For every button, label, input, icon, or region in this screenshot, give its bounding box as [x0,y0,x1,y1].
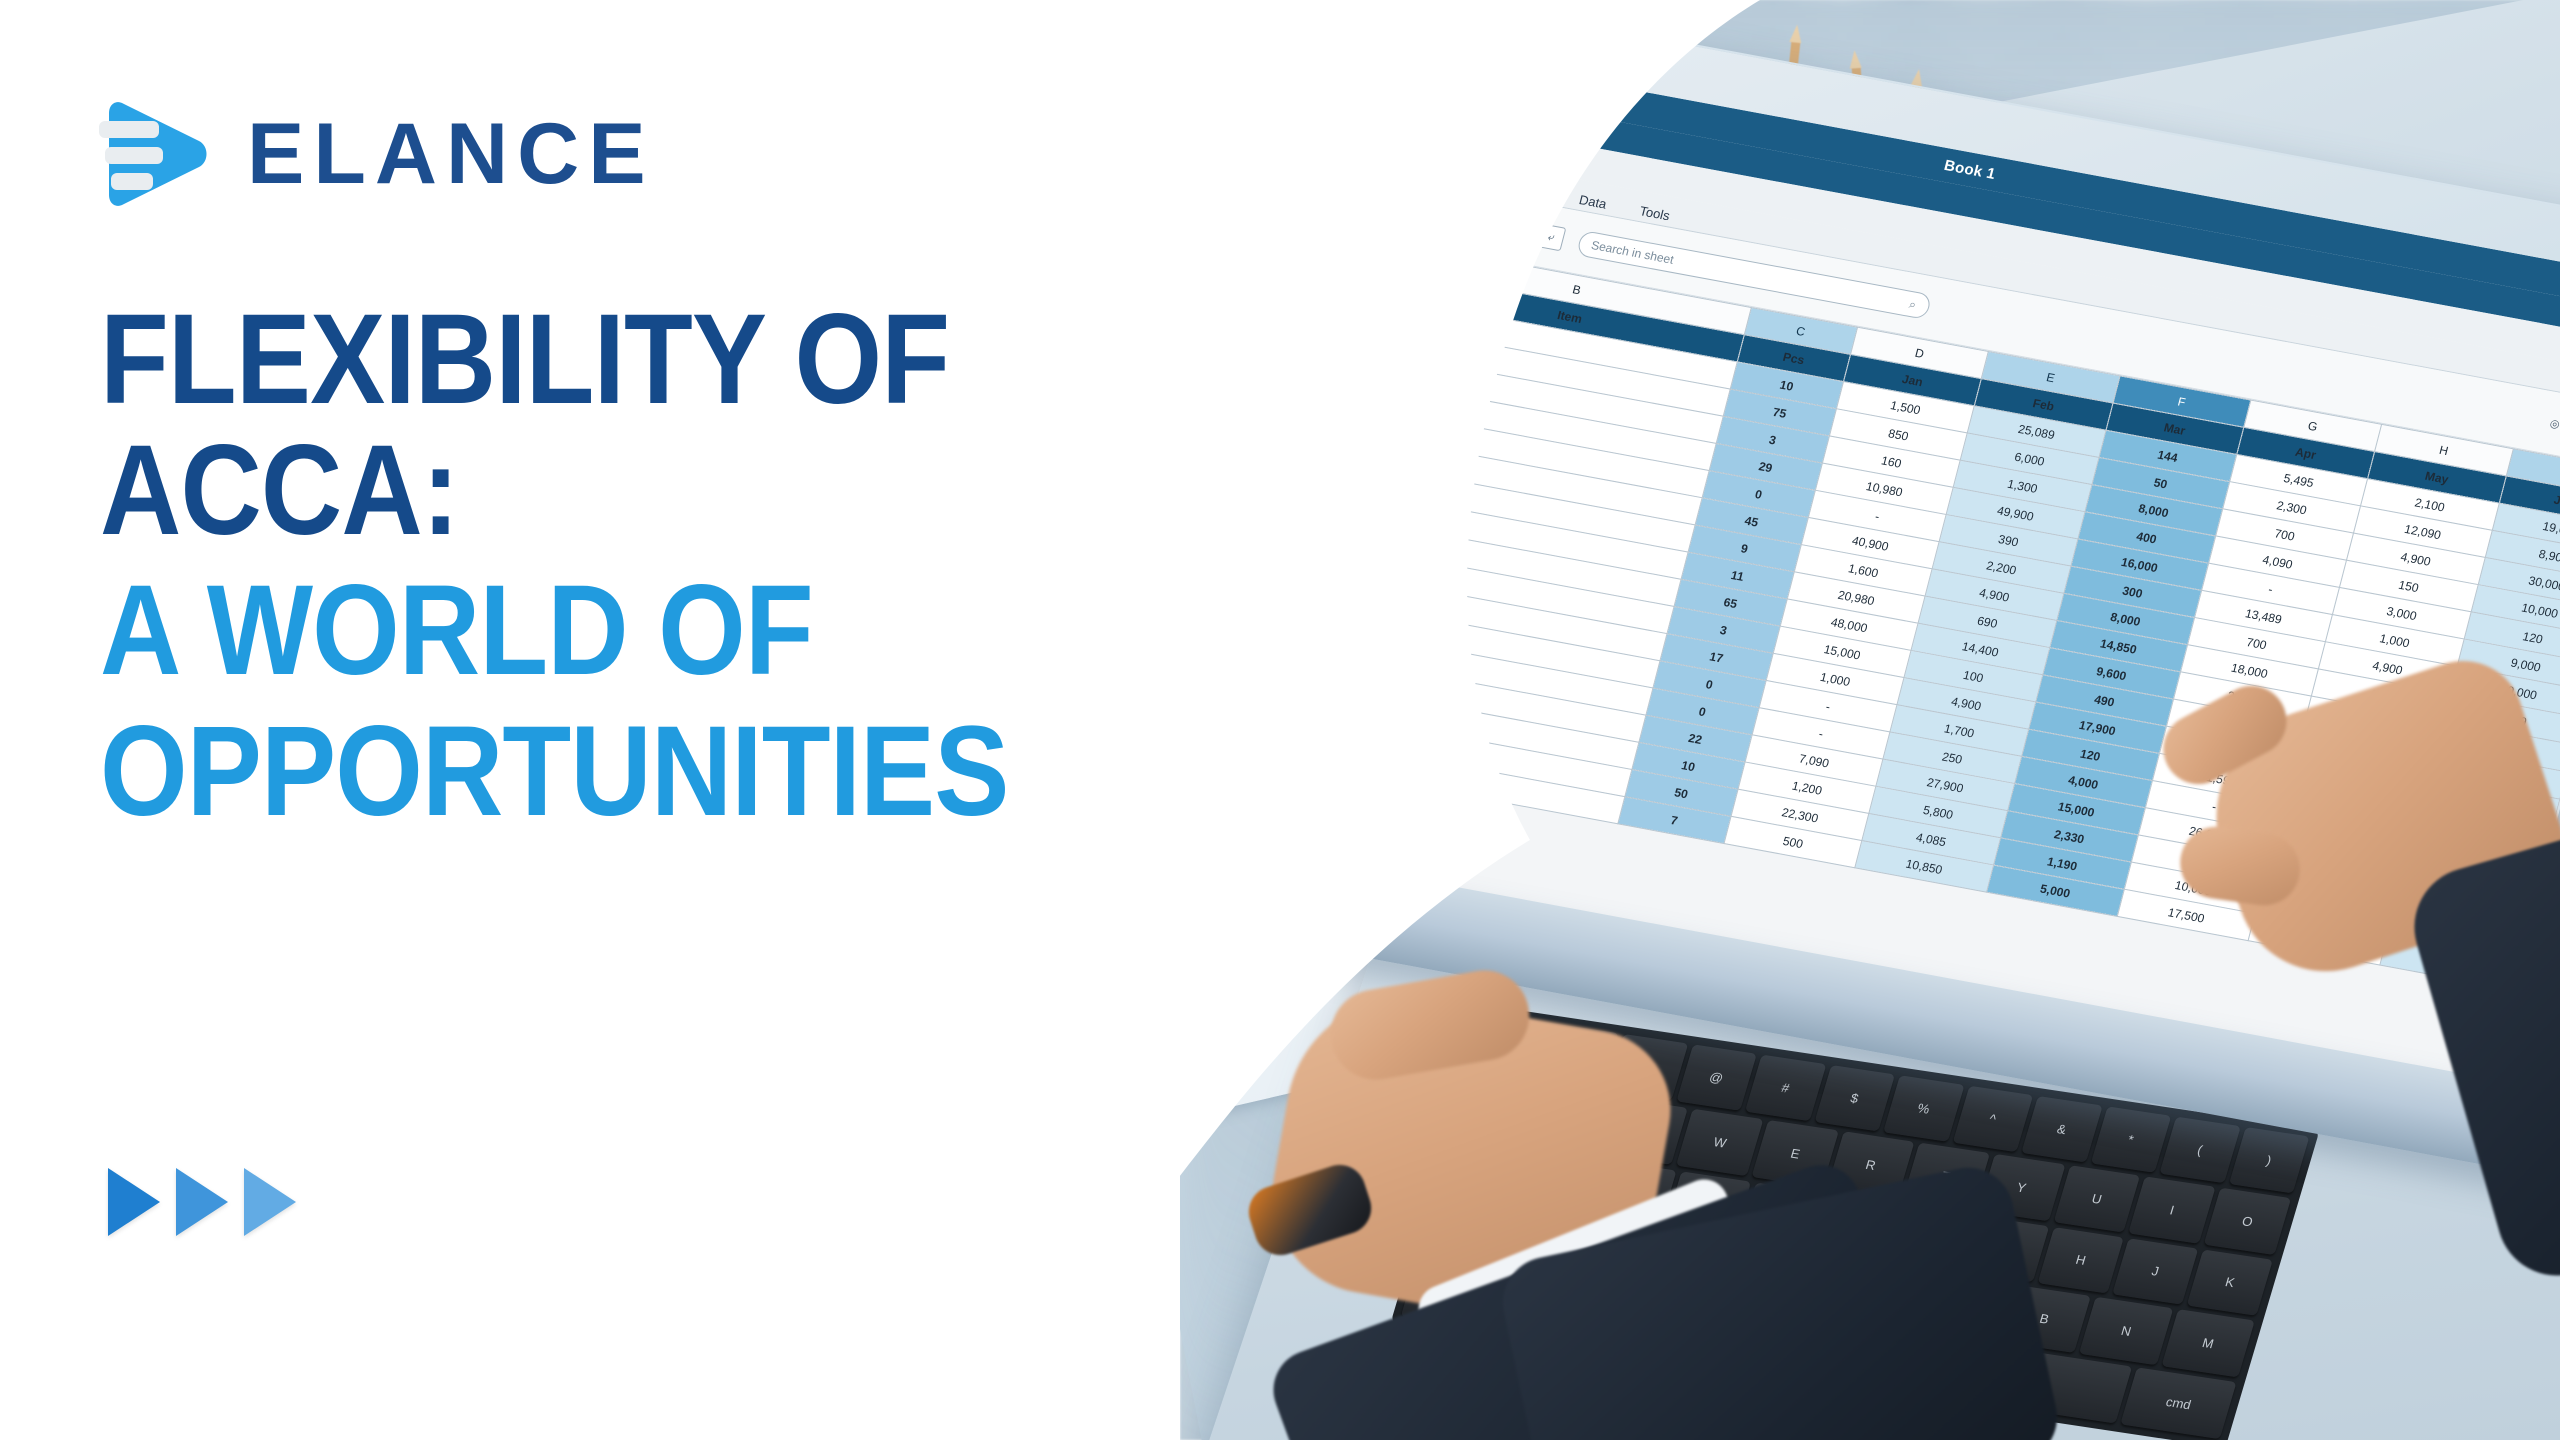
star-icon[interactable]: ★ [1298,103,1313,121]
valign-bottom-icon[interactable]: ⊥ [1470,225,1496,245]
logo-bar-3 [111,173,153,190]
valign-middle-icon[interactable]: ⊜ [1446,220,1472,240]
align-button-group[interactable]: ≡ ≡ ≡ ⊤ ⊜ ⊥ [1421,197,1501,244]
logo-bar-2 [105,147,163,164]
align-center-icon[interactable]: ≡ [1450,202,1476,222]
eye-slash-icon: ◎ [2549,416,2560,430]
triple-play-arrow-icon [108,1168,296,1236]
logo-bar-1 [99,121,159,138]
hide-columns-control[interactable]: ◎ Hide columns [2549,416,2560,444]
align-left-icon[interactable]: ≡ [1426,197,1452,217]
window-dot[interactable] [1260,66,1271,76]
laptop-photo: esc ! @ # $ % ^ & * ( ) tab Q W E [1180,0,2560,1440]
arrow-icon-2 [176,1168,228,1236]
wrap-text-icon[interactable]: ⤶ [1536,224,1566,252]
search-icon[interactable]: ⌕ [1907,296,1917,312]
window-dot[interactable] [1276,69,1287,79]
headline-line-1: FLEXIBILITY OF ACCA: [100,295,1182,556]
chevron-down-icon: ▾ [1401,202,1411,219]
brand-wordmark: ELANCE [247,105,655,204]
redo-icon[interactable]: ↻ [1260,174,1279,196]
headline-line-2: A WORLD OF [100,566,1182,697]
elance-play-mark-icon [95,95,213,213]
grid-icon: ▦ [1290,182,1306,200]
search-placeholder: Search in sheet [1590,238,1676,267]
logo-svg [95,95,213,213]
poster-canvas: esc ! @ # $ % ^ & * ( ) tab Q W E [0,0,2560,1440]
key[interactable]: cmd [2120,1368,2236,1439]
headline-line-3: OPPORTUNITIES [100,707,1182,838]
key[interactable]: J [2112,1238,2198,1305]
brand-logo[interactable]: ELANCE [95,95,655,213]
undo-icon[interactable]: ↺ [1230,169,1249,191]
key[interactable]: N [2079,1297,2173,1365]
file-name-label: My file [1249,94,1296,117]
arrow-icon-3 [244,1168,296,1236]
campaign-filter-label: All Campaigns [1308,185,1401,216]
window-title: Book 1 [1942,157,1997,183]
arrow-icon-1 [108,1168,160,1236]
cell-format-group[interactable]: ⧉ ⤶ [1509,218,1566,251]
merge-cells-icon[interactable]: ⧉ [1509,218,1539,246]
align-right-icon[interactable]: ≡ [1475,206,1501,226]
key[interactable]: M [2161,1309,2255,1377]
valign-top-icon[interactable]: ⊤ [1421,215,1447,235]
page-title: FLEXIBILITY OF ACCA: A WORLD OF OPPORTUN… [100,295,1330,837]
key[interactable]: K [2187,1249,2273,1316]
campaign-filter-dropdown[interactable]: ▦ All Campaigns ▾ [1290,182,1411,219]
key[interactable]: H [2038,1227,2124,1294]
window-dot[interactable] [1293,72,1304,82]
